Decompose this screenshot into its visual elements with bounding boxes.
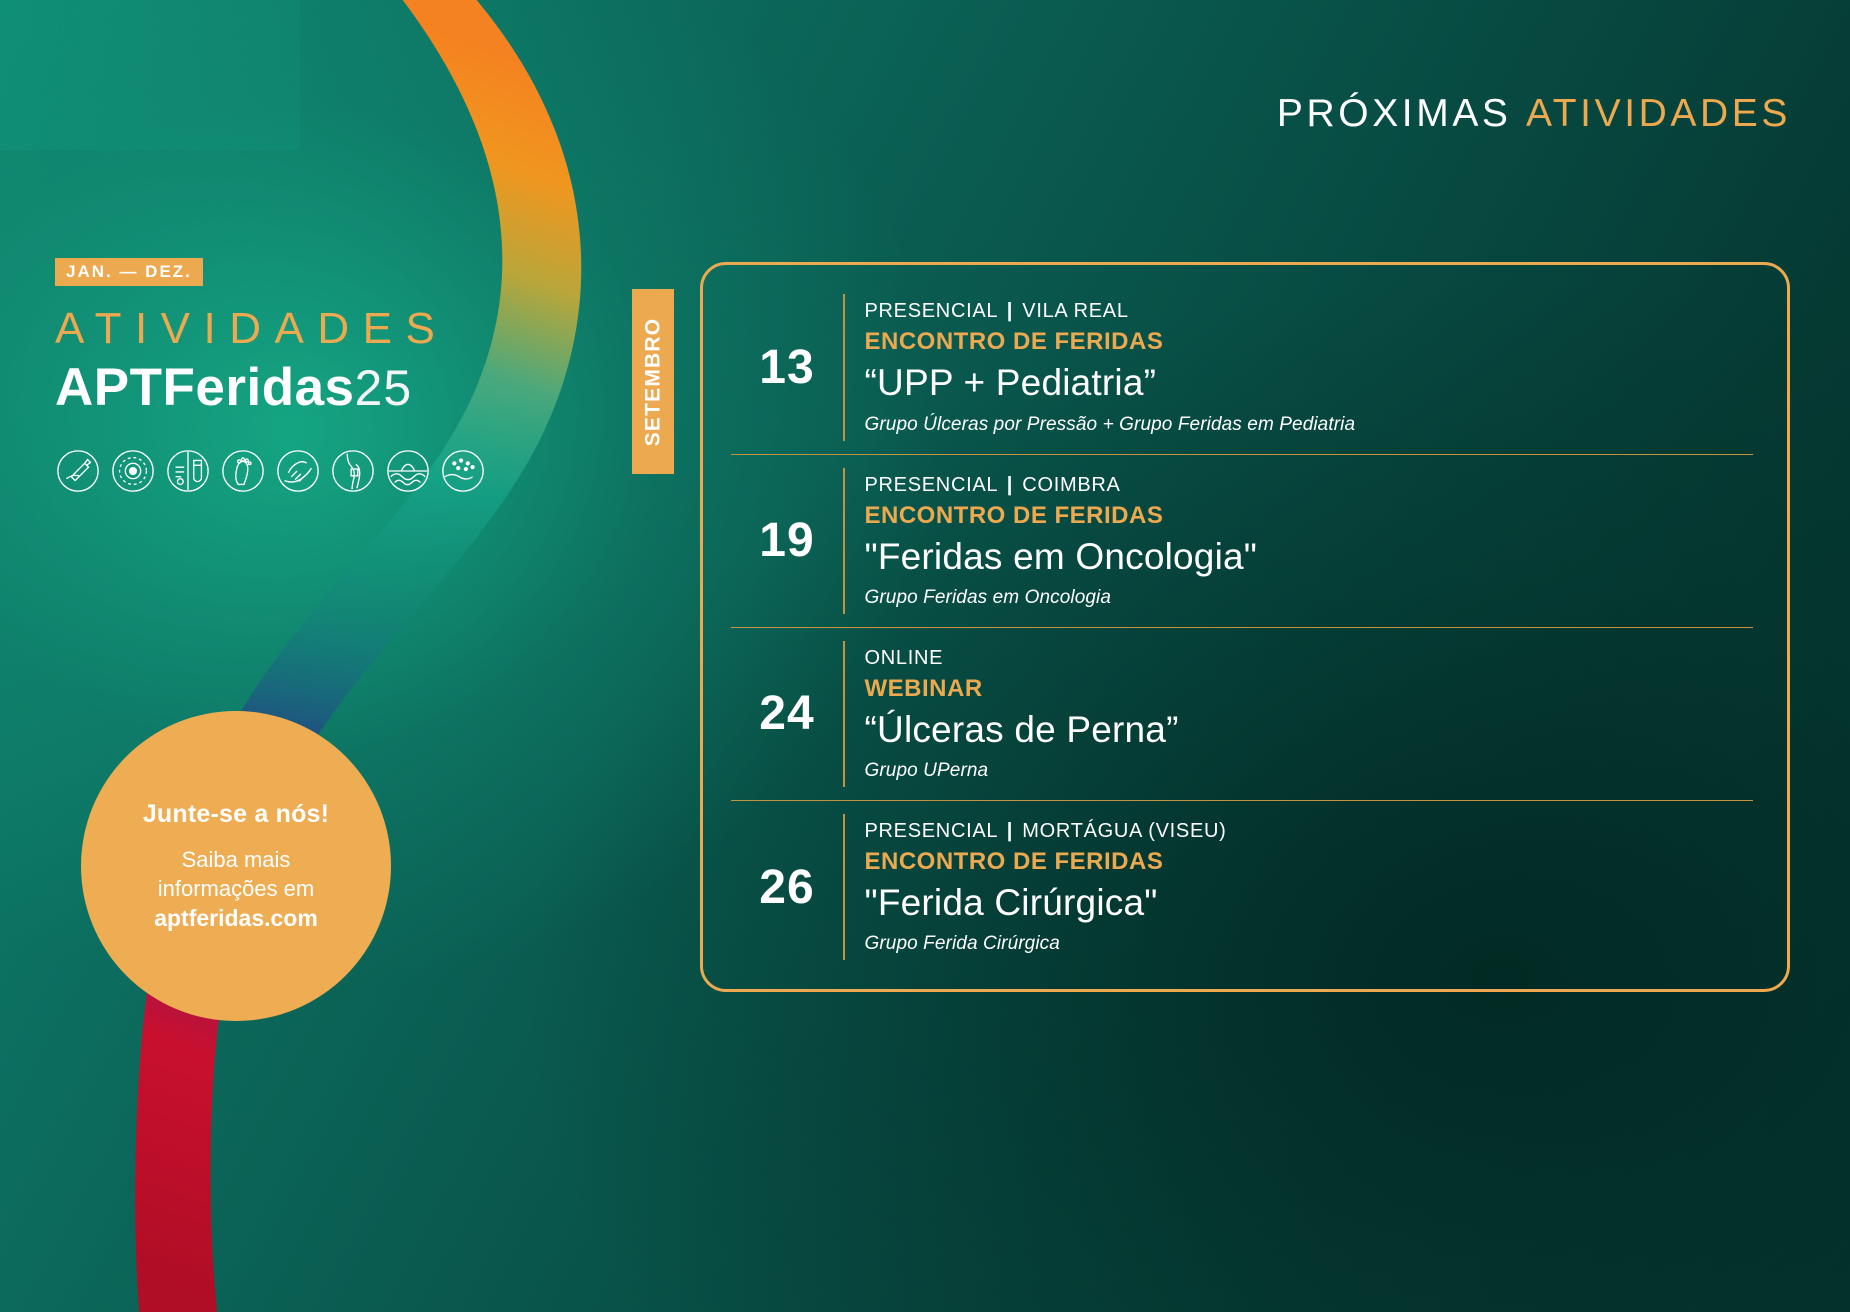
event-location: VILA REAL xyxy=(1022,300,1128,322)
event-type: ENCONTRO DE FERIDAS xyxy=(865,500,1754,531)
hand-care-icon xyxy=(275,448,321,494)
event-group: Grupo UPerna xyxy=(865,760,1754,782)
chart-syringe-icon xyxy=(165,448,211,494)
event-kicker: PRESENCIAL | MORTÁGUA (VISEU) xyxy=(865,819,1754,844)
event-day: 19 xyxy=(731,513,843,568)
cta-subtitle-line2: informações em xyxy=(158,875,315,904)
event-location: MORTÁGUA (VISEU) xyxy=(1022,820,1226,842)
brand-title: APTFeridas25 xyxy=(55,359,525,416)
event-day: 13 xyxy=(731,340,843,395)
cta-circle[interactable]: Junte-se a nós! Saiba mais informações e… xyxy=(81,711,391,1021)
event-modality: ONLINE xyxy=(865,647,944,669)
brand-subtitle: ATIVIDADES xyxy=(55,306,525,353)
brand-block: JAN. — DEZ. ATIVIDADES APTFeridas25 xyxy=(55,258,525,416)
event-kicker-separator: | xyxy=(1004,474,1016,496)
event-row[interactable]: 19 PRESENCIAL | COIMBRA ENCONTRO DE FERI… xyxy=(731,454,1753,627)
event-group: Grupo Feridas em Oncologia xyxy=(865,587,1754,609)
event-title: "Ferida Cirúrgica" xyxy=(865,880,1754,926)
event-kicker-separator: | xyxy=(1004,300,1016,322)
event-modality: PRESENCIAL xyxy=(865,474,998,496)
cta-heading: Junte-se a nós! xyxy=(143,800,329,829)
event-body: ONLINE WEBINAR “Úlceras de Perna” Grupo … xyxy=(865,646,1754,782)
event-group: Grupo Ferida Cirúrgica xyxy=(865,933,1754,955)
grain-texture xyxy=(0,0,300,150)
wound-cell-icon xyxy=(110,448,156,494)
skin-layers-icon xyxy=(385,448,431,494)
events-card: 13 PRESENCIAL | VILA REAL ENCONTRO DE FE… xyxy=(700,262,1790,992)
event-kicker-separator xyxy=(943,647,949,669)
skin-lesion-icon xyxy=(440,448,486,494)
month-tab-setembro: SETEMBRO xyxy=(632,289,674,474)
poster-background: PRÓXIMAS ATIVIDADES JAN. — DEZ. ATIVIDAD… xyxy=(0,0,1850,1312)
scalpel-wound-icon xyxy=(55,448,101,494)
event-group: Grupo Úlceras por Pressão + Grupo Ferida… xyxy=(865,414,1754,436)
event-kicker: ONLINE xyxy=(865,646,1754,671)
date-range-badge: JAN. — DEZ. xyxy=(55,258,203,286)
cta-website-link[interactable]: aptferidas.com xyxy=(154,905,318,932)
event-row[interactable]: 13 PRESENCIAL | VILA REAL ENCONTRO DE FE… xyxy=(731,281,1753,454)
event-row[interactable]: 24 ONLINE WEBINAR “Úlceras de Perna” Gru… xyxy=(731,627,1753,800)
brand-title-name: APTFeridas xyxy=(55,358,355,417)
event-type: ENCONTRO DE FERIDAS xyxy=(865,846,1754,877)
event-type: WEBINAR xyxy=(865,673,1754,704)
brand-title-year: 25 xyxy=(355,360,413,416)
event-divider xyxy=(843,294,845,441)
page-title-primary: PRÓXIMAS xyxy=(1277,92,1512,135)
foot-icon xyxy=(220,448,266,494)
event-modality: PRESENCIAL xyxy=(865,300,998,322)
event-kicker-separator: | xyxy=(1004,820,1016,842)
event-divider xyxy=(843,468,845,614)
event-divider xyxy=(843,641,845,787)
event-modality: PRESENCIAL xyxy=(865,820,998,842)
event-title: “UPP + Pediatria” xyxy=(865,360,1754,406)
event-kicker: PRESENCIAL | COIMBRA xyxy=(865,473,1754,498)
event-kicker: PRESENCIAL | VILA REAL xyxy=(865,299,1754,324)
event-type: ENCONTRO DE FERIDAS xyxy=(865,326,1754,357)
event-body: PRESENCIAL | VILA REAL ENCONTRO DE FERID… xyxy=(865,299,1754,435)
page-title: PRÓXIMAS ATIVIDADES xyxy=(1277,92,1791,136)
page-title-secondary: ATIVIDADES xyxy=(1526,92,1791,135)
event-day: 26 xyxy=(731,860,843,915)
cta-subtitle-line1: Saiba mais xyxy=(182,846,291,875)
leg-ulcer-icon xyxy=(330,448,376,494)
event-day: 24 xyxy=(731,686,843,741)
event-body: PRESENCIAL | COIMBRA ENCONTRO DE FERIDAS… xyxy=(865,473,1754,609)
event-row[interactable]: 26 PRESENCIAL | MORTÁGUA (VISEU) ENCONTR… xyxy=(731,800,1753,973)
specialty-icons-row xyxy=(55,448,486,494)
event-title: "Feridas em Oncologia" xyxy=(865,534,1754,580)
event-location: COIMBRA xyxy=(1022,474,1120,496)
month-tab-label: SETEMBRO xyxy=(641,317,665,446)
event-divider xyxy=(843,814,845,960)
event-body: PRESENCIAL | MORTÁGUA (VISEU) ENCONTRO D… xyxy=(865,819,1754,955)
event-title: “Úlceras de Perna” xyxy=(865,707,1754,753)
